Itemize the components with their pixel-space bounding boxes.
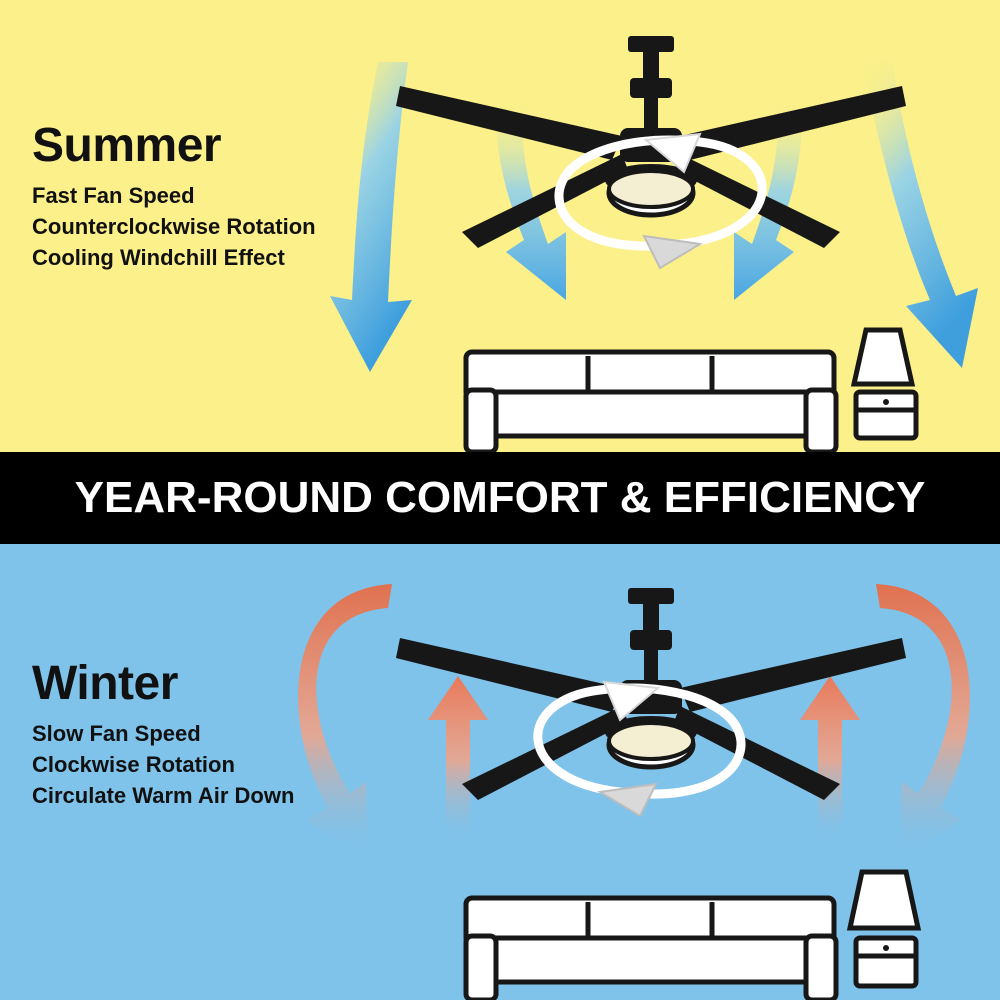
sofa-icon <box>466 898 836 1000</box>
winter-panel: Winter Slow Fan Speed Clockwise Rotation… <box>0 544 1000 1000</box>
sofa-icon <box>466 352 836 452</box>
summer-panel: Summer Fast Fan Speed Counterclockwise R… <box>0 0 1000 452</box>
summer-title: Summer <box>32 122 316 170</box>
winter-line-2: Clockwise Rotation <box>32 749 294 780</box>
winter-line-1: Slow Fan Speed <box>32 718 294 749</box>
winter-title: Winter <box>32 660 294 708</box>
summer-line-3: Cooling Windchill Effect <box>32 242 316 273</box>
banner-title: YEAR-ROUND COMFORT & EFFICIENCY <box>75 473 926 523</box>
winter-text-block: Winter Slow Fan Speed Clockwise Rotation… <box>32 660 294 812</box>
summer-line-1: Fast Fan Speed <box>32 180 316 211</box>
infographic-page: Summer Fast Fan Speed Counterclockwise R… <box>0 0 1000 1000</box>
table-lamp-icon <box>850 872 918 986</box>
summer-line-2: Counterclockwise Rotation <box>32 211 316 242</box>
winter-line-3: Circulate Warm Air Down <box>32 780 294 811</box>
summer-text-block: Summer Fast Fan Speed Counterclockwise R… <box>32 122 316 274</box>
banner-bar: YEAR-ROUND COMFORT & EFFICIENCY <box>0 452 1000 544</box>
table-lamp-icon <box>854 330 916 438</box>
